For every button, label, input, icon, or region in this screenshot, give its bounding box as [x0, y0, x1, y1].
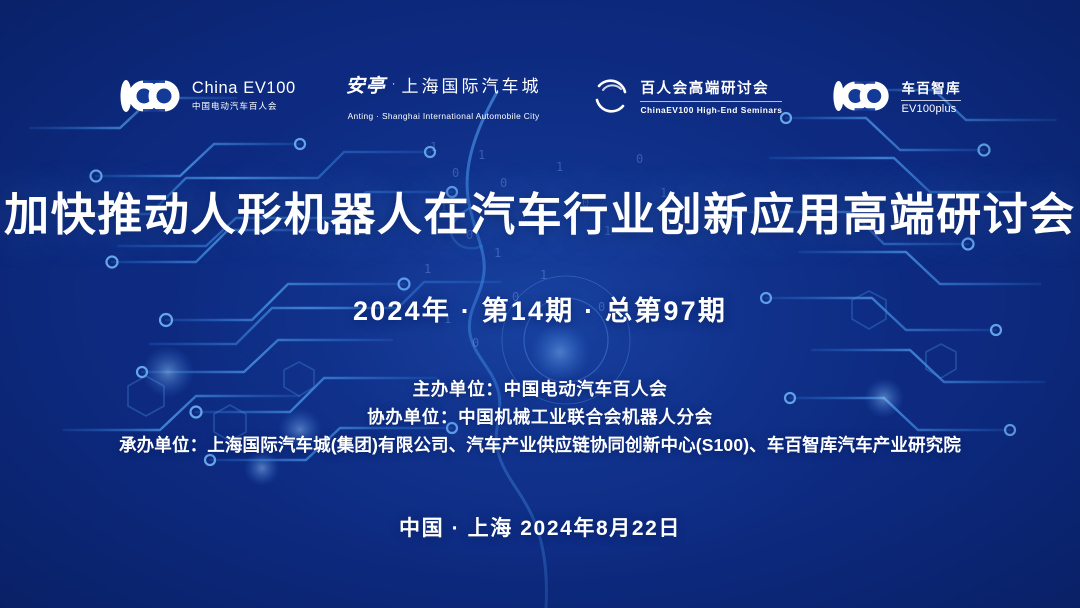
conference-banner: 1 0 1 0 1 0 1 1 0 1 0 1 0 1 0 1 1 0 — [0, 0, 1080, 608]
organizer-coorganizer: 协办单位：中国机械工业联合会机器人分会 — [0, 403, 1080, 431]
infinity-100-icon — [119, 79, 183, 113]
logo-ev100plus-en: EV100plus — [901, 103, 961, 115]
logo-seminars-rule — [640, 101, 782, 102]
logo-seminars-cn: 百人会高端研讨会 — [640, 77, 782, 98]
logo-anting-separator: · — [392, 79, 396, 90]
logo-anting-saic: 安亭 · 上海国际汽车城 Anting · Shanghai Internati… — [346, 71, 542, 121]
edition-line: 2024年 · 第14期 · 总第97期 — [0, 289, 1080, 328]
logo-seminars-en: ChinaEV100 High-End Seminars — [640, 105, 782, 115]
logo-china-ev100: China EV100 中国电动汽车百人会 — [119, 79, 296, 113]
logo-china-ev100-main: China EV100 — [192, 80, 296, 97]
logo-row: China EV100 中国电动汽车百人会 安亭 · 上海国际汽车城 Antin… — [0, 66, 1080, 126]
infinity-100-icon — [832, 80, 892, 112]
logo-ev100plus-rule — [901, 100, 961, 101]
calligraphy-anting-icon: 安亭 — [346, 71, 386, 98]
organizer-block: 主办单位：中国电动汽车百人会 协办单位：中国机械工业联合会机器人分会 承办单位：… — [0, 375, 1080, 459]
logo-ev100plus: 车百智库 EV100plus — [832, 77, 961, 116]
organizer-host: 主办单位：中国电动汽车百人会 — [0, 375, 1080, 403]
logo-anting-cn: 上海国际汽车城 — [401, 72, 541, 97]
logo-anting-en: Anting · Shanghai International Automobi… — [348, 111, 540, 121]
logo-ev100-seminars: 百人会高端研讨会 ChinaEV100 High-End Seminars — [591, 77, 782, 116]
organizer-undertaker: 承办单位：上海国际汽车城(集团)有限公司、汽车产业供应链协同创新中心(S100)… — [0, 431, 1080, 459]
page-title: 加快推动人形机器人在汽车行业创新应用高端研讨会 — [0, 178, 1080, 243]
logo-china-ev100-sub: 中国电动汽车百人会 — [192, 100, 296, 112]
swirl-arc-icon — [591, 78, 631, 114]
venue-date: 中国 · 上海 2024年8月22日 — [0, 512, 1080, 542]
logo-ev100plus-cn: 车百智库 — [901, 77, 961, 97]
